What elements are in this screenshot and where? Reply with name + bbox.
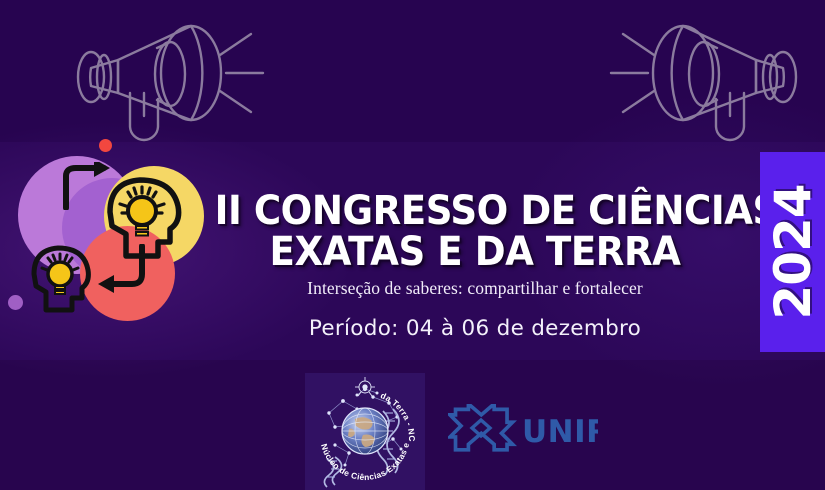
- unir-logo: UNIR UNIR: [448, 404, 598, 456]
- congress-subtitle: Interseção de saberes: compartilhar e fo…: [195, 278, 755, 299]
- head-lightbulb-icon: [96, 166, 200, 270]
- title-block: II CONGRESSO DE CIÊNCIAS EXATAS E DA TER…: [195, 192, 755, 299]
- unir-wordmark: UNIR: [522, 414, 598, 450]
- event-period: Período: 04 à 06 de dezembro: [195, 316, 755, 341]
- poster-canvas: II CONGRESSO DE CIÊNCIAS EXATAS E DA TER…: [0, 0, 825, 490]
- ncet-logo: Núcleo de Ciências Exatas e da Terra - N…: [305, 373, 425, 490]
- idea-exchange-graphic: [0, 148, 215, 326]
- background-band-top: [0, 0, 825, 142]
- year-banner: 2024: [760, 152, 825, 352]
- year-label: 2024: [764, 184, 822, 319]
- congress-title-line-1: II CONGRESSO DE CIÊNCIAS: [215, 192, 736, 231]
- congress-title-line-2: EXATAS E DA TERRA: [215, 233, 736, 272]
